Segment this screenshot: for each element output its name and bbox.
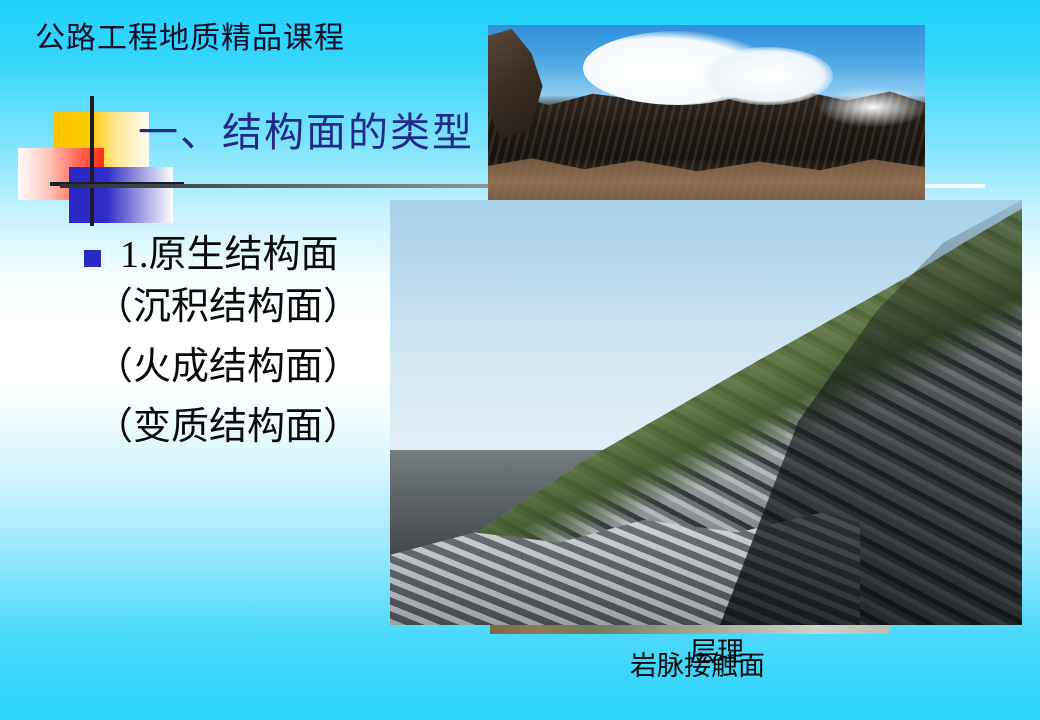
sub-item-metamorphic: （变质结构面）: [95, 408, 361, 446]
rock-outcrop-image: [488, 25, 925, 200]
sub-item-igneous: （火成结构面）: [95, 348, 361, 386]
cloud-shape: [703, 47, 833, 105]
sub-item-sedimentary: （沉积结构面）: [95, 288, 361, 326]
bullet-item-label: 1.原生结构面: [120, 236, 339, 274]
caption-dike-contact: 岩脉接触面: [630, 653, 765, 680]
slide-canvas: 公路工程地质精品课程 一、结构面的类型 1.原生结构面 （沉积结构面） （火成结…: [0, 0, 1040, 720]
blue-square-icon: [69, 167, 173, 223]
cloud-shape: [818, 87, 925, 127]
section-heading: 一、结构面的类型: [138, 110, 474, 156]
square-bullet-icon: [84, 250, 101, 267]
landscape-strip-image: [490, 625, 890, 634]
vertical-crosshair-line-icon: [90, 96, 94, 226]
page-title: 公路工程地质精品课程: [35, 22, 345, 57]
bullet-list-item: 1.原生结构面: [84, 236, 339, 274]
rock-strata-image: [390, 200, 1022, 625]
